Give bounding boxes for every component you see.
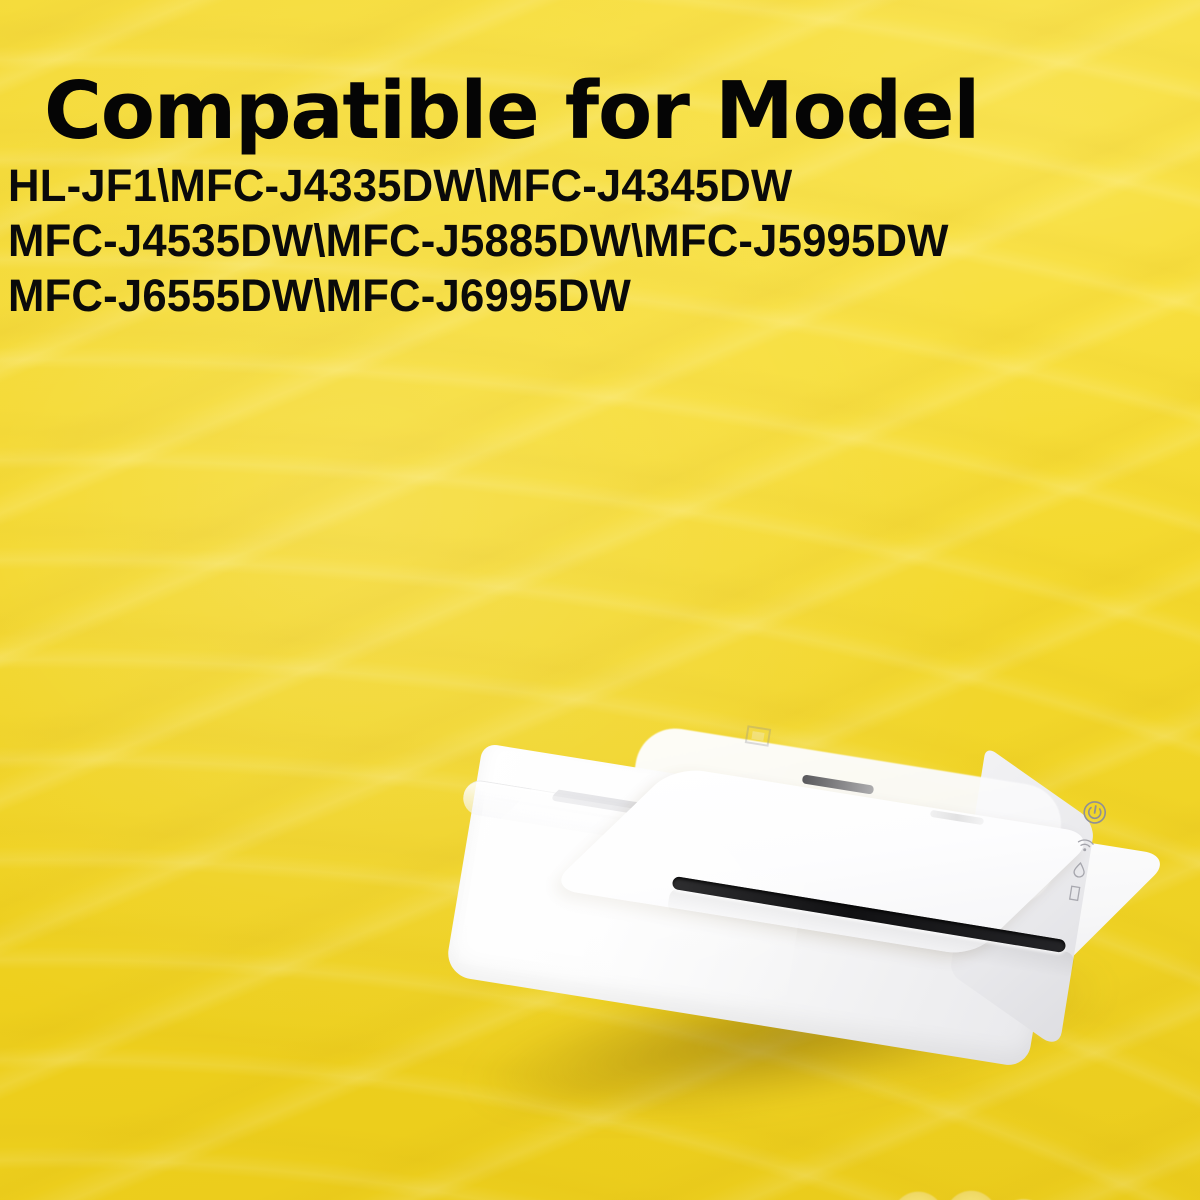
printer-product-image bbox=[430, 670, 1170, 1110]
compatible-model-list: HL-JF1\MFC-J4335DW\MFC-J4345DW MFC-J4535… bbox=[8, 158, 1118, 323]
model-line-3: MFC-J6555DW\MFC-J6995DW bbox=[8, 268, 1085, 323]
model-line-1: HL-JF1\MFC-J4335DW\MFC-J4345DW bbox=[8, 158, 1085, 213]
square-logo-icon bbox=[743, 723, 772, 749]
power-icon[interactable] bbox=[1080, 798, 1110, 828]
headline-block: Compatible for Model bbox=[44, 72, 1164, 151]
model-line-2: MFC-J4535DW\MFC-J5885DW\MFC-J5995DW bbox=[8, 213, 1085, 268]
paper-icon bbox=[1068, 884, 1082, 902]
wifi-icon bbox=[1075, 837, 1095, 854]
ink-drop-icon bbox=[1071, 861, 1087, 879]
page-title: Compatible for Model bbox=[44, 72, 1164, 151]
banner-canvas: Compatible for Model HL-JF1\MFC-J4335DW\… bbox=[0, 0, 1200, 1200]
